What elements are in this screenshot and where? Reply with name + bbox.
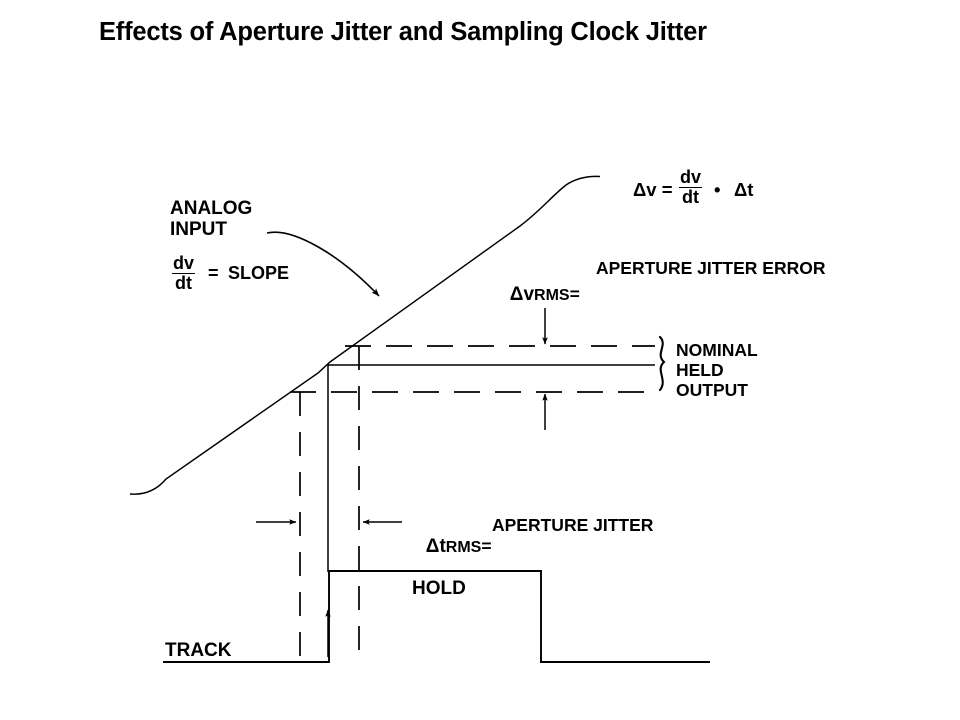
slope-numerator: dv (172, 254, 195, 274)
page-title: Effects of Aperture Jitter and Sampling … (99, 19, 707, 47)
nominal-held-output-brace (660, 337, 664, 390)
delta-v-rms-term: ΔvRMS= (492, 266, 580, 324)
diagram-figure (0, 0, 960, 720)
delta-t-rms-equals: = (481, 536, 491, 556)
delta-v-rms-subscript: RMS (534, 287, 570, 304)
slope-equals-sign: = (208, 264, 219, 283)
delta-v-rms-base: Δv (510, 284, 534, 305)
dvdt-denominator: dt (679, 188, 702, 207)
dvdt-numerator: dv (679, 168, 702, 188)
delta-t-term: Δt (734, 180, 753, 200)
slope-denominator: dt (172, 274, 195, 293)
delta-t-rms-base: Δt (426, 536, 446, 557)
nominal-held-output-label: NOMINAL HELD OUTPUT (676, 341, 758, 400)
multiplication-dot: • (714, 180, 720, 200)
slope-word-label: SLOPE (228, 264, 289, 283)
delta-v-equals-label: Δv = (633, 180, 673, 200)
hold-label: HOLD (412, 579, 466, 600)
aperture-jitter-error-label: APERTURE JITTER ERROR (596, 259, 825, 278)
slope-fraction: dv dt (172, 254, 195, 292)
delta-t-rms-subscript: RMS (446, 539, 482, 556)
delta-v-rms-equals: = (570, 284, 580, 304)
track-label: TRACK (165, 641, 232, 662)
dvdt-fraction: dv dt (679, 168, 702, 206)
delta-t-rms-term: ΔtRMS= (408, 518, 492, 576)
slide-canvas: Effects of Aperture Jitter and Sampling … (0, 0, 960, 720)
analog-input-label: ANALOG INPUT (170, 199, 252, 240)
aperture-jitter-label: APERTURE JITTER (492, 516, 653, 535)
